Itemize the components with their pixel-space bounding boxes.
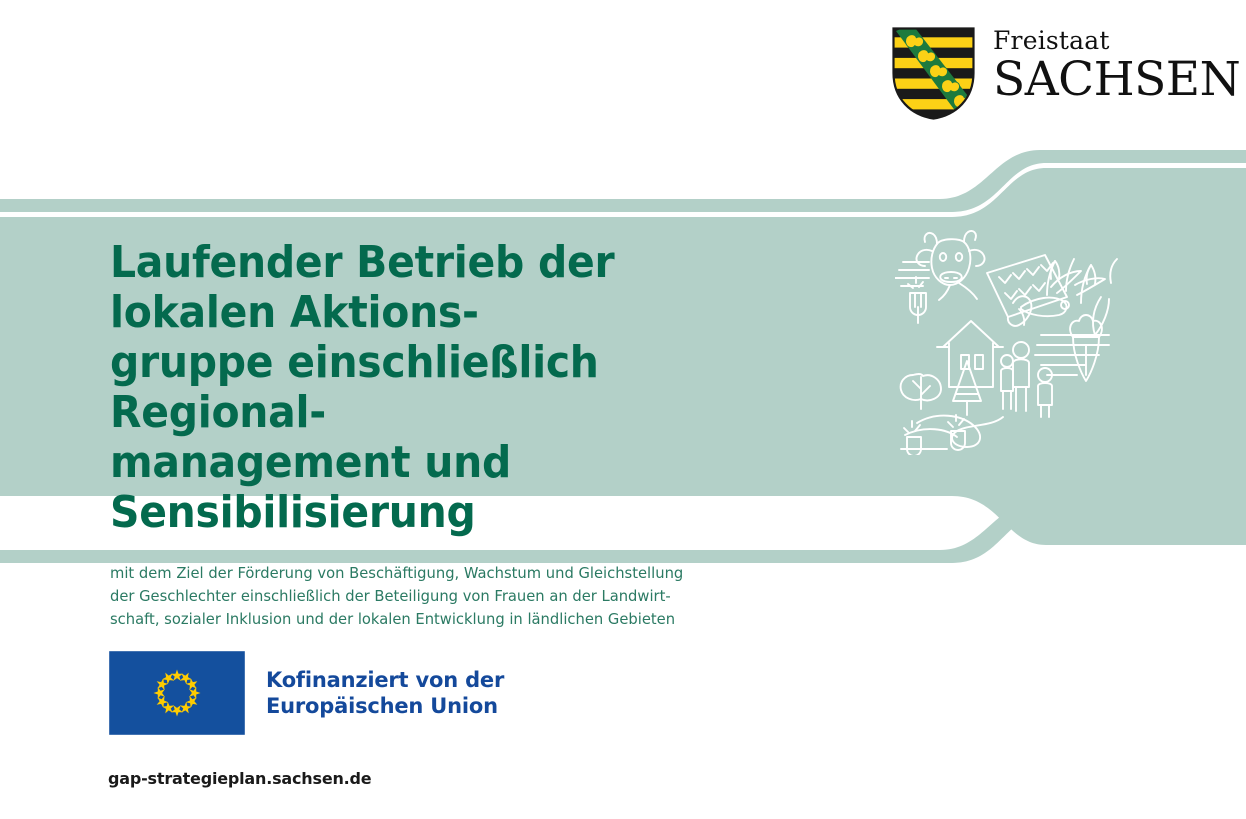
banner-text-block: Laufender Betrieb der lokalen Aktions- g…	[110, 238, 810, 631]
eu-flag-icon	[108, 650, 246, 736]
saxony-coat-of-arms-icon	[892, 27, 975, 120]
sachsen-wordmark-line1: Freistaat	[993, 28, 1110, 53]
sachsen-wordmark-line2: SACHSEN	[993, 56, 1240, 103]
green-banner: Laufender Betrieb der lokalen Aktions- g…	[0, 130, 1246, 570]
website-url[interactable]: gap-strategieplan.sachsen.de	[108, 769, 371, 788]
sachsen-wordmark: Freistaat SACHSEN	[993, 27, 1240, 103]
freistaat-sachsen-logo: Freistaat SACHSEN	[892, 27, 1192, 122]
eu-cofunding-logo: Kofinanziert von der Europäischen Union	[108, 650, 504, 736]
poster-page: Freistaat SACHSEN Laufender Betrieb der …	[0, 0, 1246, 819]
eu-cofunding-label: Kofinanziert von der Europäischen Union	[266, 667, 504, 719]
page-subtitle: mit dem Ziel der Förderung von Beschäfti…	[110, 562, 775, 631]
page-title: Laufender Betrieb der lokalen Aktions- g…	[110, 238, 761, 538]
